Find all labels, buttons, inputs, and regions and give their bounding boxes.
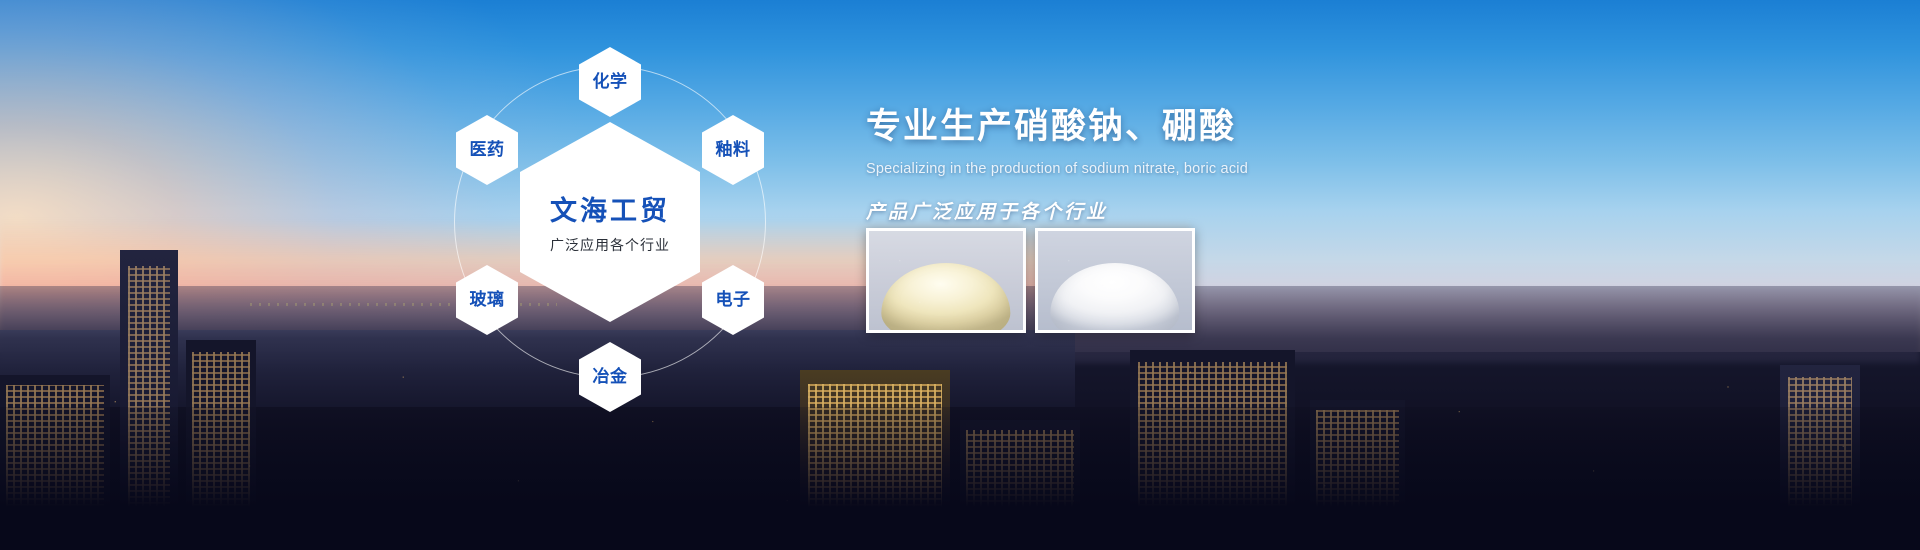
product-photo-boric-acid[interactable]	[1035, 228, 1195, 333]
banner-headline: 专业生产硝酸钠、硼酸	[866, 98, 1766, 149]
photo-inner	[1038, 231, 1192, 330]
industry-hexagon-diagram: 化学 釉料 电子 冶金 玻璃 医药 文海工贸 广泛应用各个行业	[430, 22, 790, 422]
hex-node-label: 冶金	[593, 368, 628, 387]
powder-grain-texture	[1038, 231, 1192, 330]
hex-node-label: 玻璃	[470, 291, 505, 310]
hex-node-label: 化学	[593, 73, 628, 92]
banner-subtitle-english: Specializing in the production of sodium…	[866, 161, 1766, 177]
company-name: 文海工贸	[550, 189, 670, 228]
product-photo-gallery	[866, 228, 1195, 333]
banner-subtitle-chinese: 产品广泛应用于各个行业	[866, 197, 1766, 224]
promo-banner: 化学 釉料 电子 冶金 玻璃 医药 文海工贸 广泛应用各个行业 专业生产硝酸钠、…	[0, 0, 1920, 550]
product-photo-sodium-nitrate[interactable]	[866, 228, 1026, 333]
hex-node-label: 釉料	[716, 141, 751, 160]
powder-grain-texture	[869, 231, 1023, 330]
photo-inner	[869, 231, 1023, 330]
company-tagline: 广泛应用各个行业	[550, 235, 670, 255]
hex-node-label: 电子	[716, 291, 751, 310]
hex-node-label: 医药	[470, 141, 505, 160]
banner-text-block: 专业生产硝酸钠、硼酸 Specializing in the productio…	[866, 98, 1766, 224]
foreground-shadow	[0, 407, 1920, 550]
